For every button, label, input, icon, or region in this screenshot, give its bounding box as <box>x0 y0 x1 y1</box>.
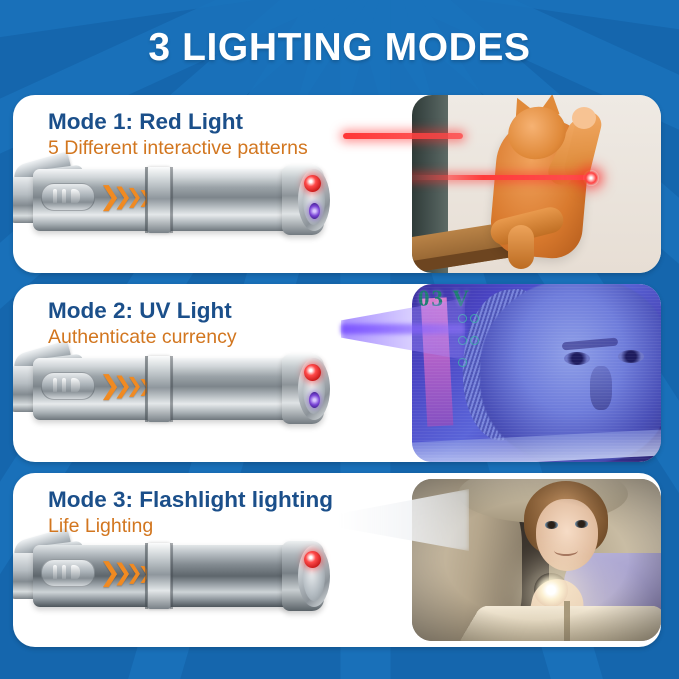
barrel-ring <box>147 167 171 233</box>
red-led-icon <box>304 551 321 568</box>
cat-scene <box>412 95 661 273</box>
cat-hind-leg-2 <box>508 225 534 269</box>
infographic-canvas: 3 LIGHTING MODES Mode 1: Red L <box>0 0 679 679</box>
mode-card-3: Mode 3: Flashlight lighting Life Lightin… <box>13 473 661 647</box>
mode-card-1: Mode 1: Red Light 5 Different interactiv… <box>13 95 661 273</box>
mode-3-text: Mode 3: Flashlight lighting Life Lightin… <box>48 487 333 538</box>
barrel-ring-edge-right <box>170 543 173 609</box>
cat-chasing-laser-photo <box>412 95 661 273</box>
mode-1-heading: Mode 1: Red Light <box>48 109 308 136</box>
uv-light-beam-core <box>341 324 465 334</box>
power-button-icon <box>41 372 95 400</box>
red-laser-beam <box>343 133 463 139</box>
laser-beam-in-photo <box>412 175 597 180</box>
barrel-ring-edge-right <box>170 356 173 422</box>
laser-dot <box>583 170 599 186</box>
power-button-icon <box>41 183 95 211</box>
mode-2-subtitle: Authenticate currency <box>48 326 237 349</box>
uv-led-icon <box>309 203 320 219</box>
barrel-ring-edge-left <box>145 356 148 422</box>
barrel-ring-edge-left <box>145 543 148 609</box>
barrel-ring-edge-right <box>170 167 173 233</box>
red-led-icon <box>304 364 321 381</box>
mode-1-text: Mode 1: Red Light 5 Different interactiv… <box>48 109 308 160</box>
red-led-icon <box>304 175 321 192</box>
page-title: 3 LIGHTING MODES <box>0 26 679 70</box>
cat-paw <box>572 107 596 129</box>
mode-2-text: Mode 2: UV Light Authenticate currency <box>48 298 237 349</box>
mode-3-subtitle: Life Lighting <box>48 515 333 538</box>
uv-led-icon <box>309 392 320 408</box>
barrel-ring <box>147 356 171 422</box>
mode-3-heading: Mode 3: Flashlight lighting <box>48 487 333 514</box>
mode-1-subtitle: 5 Different interactive patterns <box>48 137 308 160</box>
white-flashlight-beam <box>339 489 469 551</box>
power-button-icon <box>41 559 95 587</box>
barrel-ring <box>147 543 171 609</box>
mode-card-2: 03 V Mode 2: UV Light Authenticate curre… <box>13 284 661 462</box>
barrel-ring-edge-left <box>145 167 148 233</box>
mode-2-heading: Mode 2: UV Light <box>48 298 237 325</box>
